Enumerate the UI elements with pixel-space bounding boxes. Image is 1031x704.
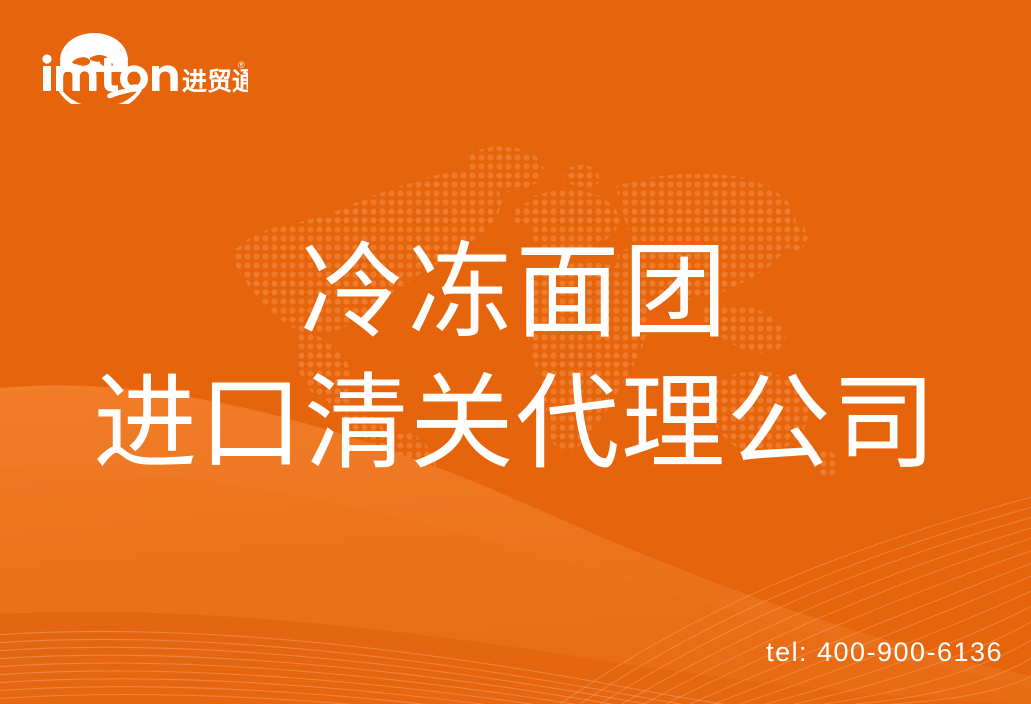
- headline-line-1: 冷冻面团: [0, 230, 1031, 357]
- headline-line-2: 进口清关代理公司: [0, 361, 1031, 488]
- logo-chinese-name: 进贸通: [182, 67, 248, 96]
- promotional-banner: 进贸通 ® 冷冻面团 进口清关代理公司 tel: 400-900-6136: [0, 0, 1031, 704]
- telephone-text: tel: 400-900-6136: [766, 637, 1003, 668]
- brand-logo[interactable]: 进贸通 ®: [38, 28, 248, 104]
- headline-block: 冷冻面团 进口清关代理公司: [0, 230, 1031, 488]
- logo-trademark-symbol: ®: [238, 60, 245, 70]
